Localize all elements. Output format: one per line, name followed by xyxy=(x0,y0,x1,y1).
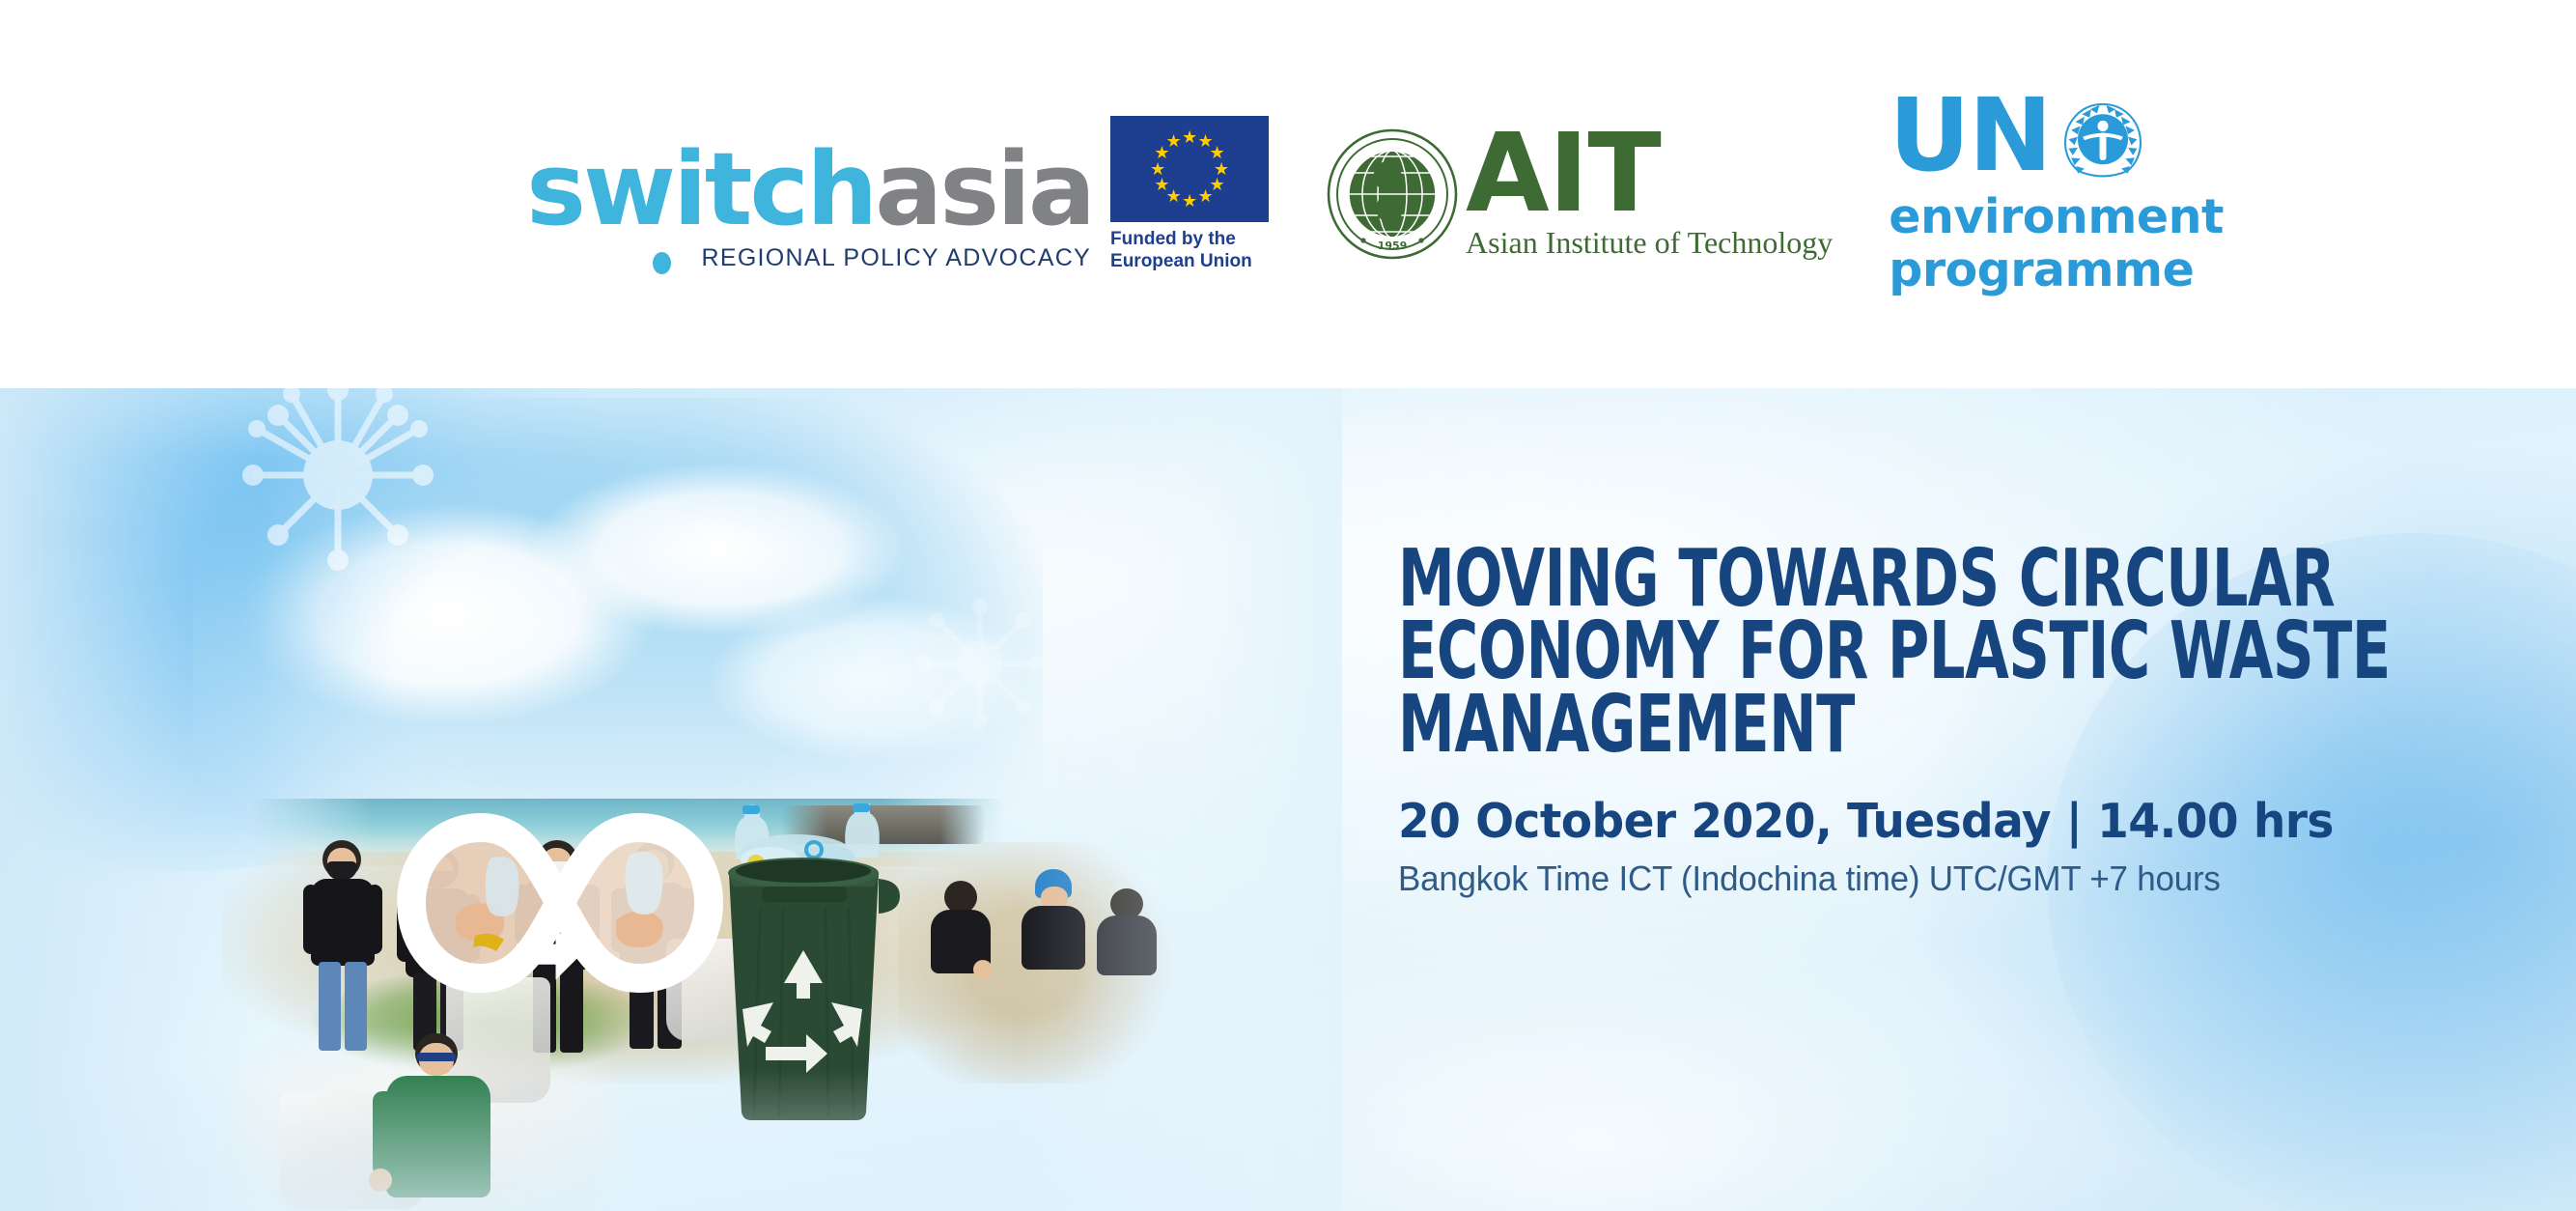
ait-full-name: Asian Institute of Technology xyxy=(1466,225,1833,261)
hero-banner: MOVING TOWARDS CIRCULAR ECONOMY FOR PLAS… xyxy=(0,388,2576,1211)
unep-top-row: UN xyxy=(1889,95,2153,191)
virus-motif-icon xyxy=(232,388,444,581)
eu-star: ★ xyxy=(1150,161,1166,178)
ait-seal-year: 1959 xyxy=(1378,239,1408,252)
un-emblem-icon xyxy=(2053,91,2153,191)
switch-asia-dot xyxy=(653,252,671,274)
unep-logo: UN xyxy=(1889,95,2224,294)
crouching-volunteer-1 xyxy=(925,881,1000,997)
unep-environment-text: environment xyxy=(1889,193,2224,240)
circular-economy-infinity-icon xyxy=(386,799,734,1006)
ait-abbreviation: AIT xyxy=(1466,127,1661,220)
eu-funding-caption: Funded by the European Union xyxy=(1110,229,1269,272)
volunteer-1 xyxy=(299,840,386,1062)
switch-asia-tagline: REGIONAL POLICY ADVOCACY xyxy=(701,244,1091,272)
ait-logo: 1959 AIT Asian Institute of Technology xyxy=(1325,127,1833,262)
eu-star: ★ xyxy=(1154,177,1170,193)
switch-asia-word-asia: asia xyxy=(875,130,1093,248)
switch-asia-word: switchasia xyxy=(526,144,1093,237)
eu-star: ★ xyxy=(1165,133,1182,150)
event-date-time: 20 October 2020, Tuesday | 14.00 hrs xyxy=(1398,794,2408,849)
logo-row: switchasia REGIONAL POLICY ADVOCACY ★★★★… xyxy=(0,0,2576,388)
logo-header-band: switchasia REGIONAL POLICY ADVOCACY ★★★★… xyxy=(0,0,2576,388)
webinar-banner: switchasia REGIONAL POLICY ADVOCACY ★★★★… xyxy=(0,0,2576,1211)
crouching-volunteer-2 xyxy=(1016,869,1095,993)
virus-motif-icon-secondary xyxy=(908,591,1052,736)
eu-flag-icon: ★★★★★★★★★★★★ xyxy=(1110,116,1269,222)
ait-seal-icon: 1959 xyxy=(1325,127,1460,262)
title-line-1: MOVING TOWARDS CIRCULAR xyxy=(1398,543,2240,615)
title-line-3: MANAGEMENT xyxy=(1398,689,2240,761)
switch-asia-wordmark: switchasia REGIONAL POLICY ADVOCACY xyxy=(526,144,1093,272)
switch-asia-logo: switchasia REGIONAL POLICY ADVOCACY ★★★★… xyxy=(526,116,1269,272)
eu-star: ★ xyxy=(1182,193,1198,210)
beach-cleanup-photo-collage xyxy=(106,388,1265,1211)
ait-wordmark: AIT Asian Institute of Technology xyxy=(1466,127,1833,260)
title-line-2: ECONOMY FOR PLASTIC WASTE xyxy=(1398,615,2240,688)
unep-un-text: UN xyxy=(1889,95,2051,177)
eu-star: ★ xyxy=(1182,129,1198,146)
crouching-volunteer-3 xyxy=(1093,888,1166,1002)
event-timezone: Bangkok Time ICT (Indochina time) UTC/GM… xyxy=(1398,859,2419,899)
eu-star: ★ xyxy=(1197,188,1214,205)
volunteer-green-sorting xyxy=(359,1033,504,1211)
eu-caption-line2: European Union xyxy=(1110,251,1269,272)
page-title: MOVING TOWARDS CIRCULAR ECONOMY FOR PLAS… xyxy=(1398,543,2240,761)
eu-caption-line1: Funded by the xyxy=(1110,229,1269,250)
european-union-logo: ★★★★★★★★★★★★ Funded by the European Unio… xyxy=(1110,116,1269,272)
switch-asia-word-switch: switch xyxy=(526,130,875,248)
hero-text-block: MOVING TOWARDS CIRCULAR ECONOMY FOR PLAS… xyxy=(1398,543,2450,899)
unep-programme-text: programme xyxy=(1889,246,2194,294)
